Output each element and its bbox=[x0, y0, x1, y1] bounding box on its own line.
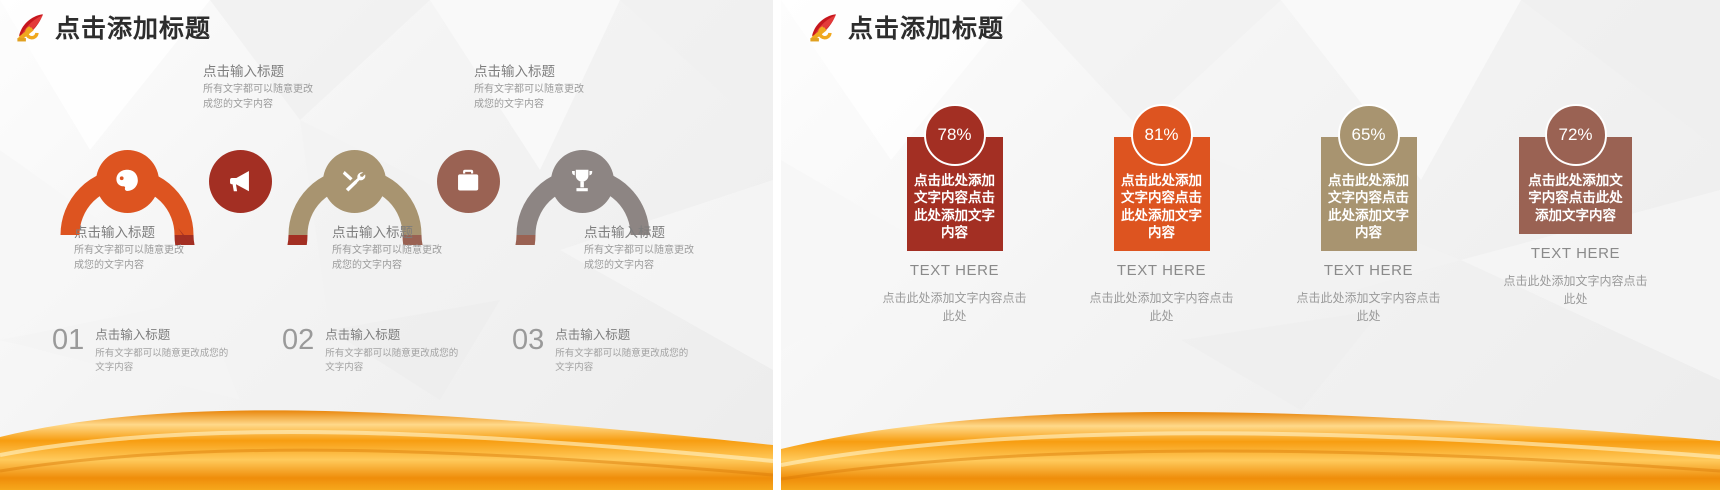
wave-label-title: 点击输入标题 bbox=[203, 63, 321, 81]
item-body: 所有文字都可以随意更改成您的文字内容 bbox=[325, 347, 467, 375]
card-label: TEXT HERE bbox=[910, 262, 999, 279]
stat-card[interactable]: 72% 点击此处添加文字内容点击此处添加文字内容 TEXT HERE 点击此处添… bbox=[1472, 104, 1679, 325]
list-item[interactable]: 01 点击输入标题 所有文字都可以随意更改成您的文字内容 bbox=[52, 326, 282, 375]
wave-label-5: 点击输入标题 所有文字都可以随意更改成您的文字内容 bbox=[584, 224, 702, 273]
stat-card[interactable]: 81% 点击此处添加文字内容点击此处添加文字内容 TEXT HERE 点击此处添… bbox=[1058, 104, 1265, 325]
wave-label-body: 所有文字都可以随意更改成您的文字内容 bbox=[332, 244, 450, 273]
gold-silk-ribbon bbox=[0, 375, 773, 490]
palette-icon bbox=[112, 166, 142, 196]
card-description: 点击此处添加文字内容点击此处 bbox=[1501, 272, 1651, 308]
item-number: 02 bbox=[282, 326, 314, 355]
slide-header-right: 点击添加标题 bbox=[807, 9, 1004, 45]
card-label: TEXT HERE bbox=[1531, 245, 1620, 262]
wave-label-body: 所有文字都可以随意更改成您的文字内容 bbox=[74, 244, 192, 273]
card-label: TEXT HERE bbox=[1324, 262, 1413, 279]
wave-label-title: 点击输入标题 bbox=[474, 63, 592, 81]
item-number: 01 bbox=[52, 326, 84, 355]
wave-label-3: 点击输入标题 所有文字都可以随意更改成您的文字内容 bbox=[332, 224, 450, 273]
stat-card[interactable]: 65% 点击此处添加文字内容点击此处添加文字内容 TEXT HERE 点击此处添… bbox=[1265, 104, 1472, 325]
percent-badge: 72% bbox=[1545, 104, 1607, 166]
numbered-list: 01 点击输入标题 所有文字都可以随意更改成您的文字内容 02 点击输入标题 所… bbox=[52, 326, 742, 375]
slide-divider bbox=[773, 0, 781, 490]
item-title: 点击输入标题 bbox=[95, 327, 170, 342]
item-title: 点击输入标题 bbox=[325, 327, 400, 342]
list-item[interactable]: 02 点击输入标题 所有文字都可以随意更改成您的文字内容 bbox=[282, 326, 512, 375]
item-number: 03 bbox=[512, 326, 544, 355]
wave-label-1: 点击输入标题 所有文字都可以随意更改成您的文字内容 bbox=[74, 224, 192, 273]
percent-badge: 65% bbox=[1338, 104, 1400, 166]
wave-node-3[interactable] bbox=[323, 150, 386, 213]
megaphone-icon bbox=[225, 166, 255, 196]
item-title: 点击输入标题 bbox=[555, 327, 630, 342]
wave-label-2: 点击输入标题 所有文字都可以随意更改成您的文字内容 bbox=[203, 63, 321, 112]
slide-header-left: 点击添加标题 bbox=[14, 9, 211, 45]
item-body: 所有文字都可以随意更改成您的文字内容 bbox=[95, 347, 237, 375]
card-description: 点击此处添加文字内容点击此处 bbox=[880, 289, 1030, 325]
percent-badge: 81% bbox=[1131, 104, 1193, 166]
tools-icon bbox=[339, 166, 369, 196]
trophy-icon bbox=[567, 166, 597, 196]
wave-node-4[interactable] bbox=[437, 150, 500, 213]
wave-label-title: 点击输入标题 bbox=[332, 224, 450, 242]
wave-label-title: 点击输入标题 bbox=[74, 224, 192, 242]
card-label: TEXT HERE bbox=[1117, 262, 1206, 279]
stat-card-list: 78% 点击此处添加文字内容点击此处添加文字内容 TEXT HERE 点击此处添… bbox=[851, 104, 1681, 325]
wave-node-1[interactable] bbox=[96, 150, 159, 213]
card-description: 点击此处添加文字内容点击此处 bbox=[1294, 289, 1444, 325]
wave-label-body: 所有文字都可以随意更改成您的文字内容 bbox=[584, 244, 702, 273]
stat-card[interactable]: 78% 点击此处添加文字内容点击此处添加文字内容 TEXT HERE 点击此处添… bbox=[851, 104, 1058, 325]
slide-deck: 点击添加标题 bbox=[0, 0, 1720, 490]
wave-label-title: 点击输入标题 bbox=[584, 224, 702, 242]
slide-left: 点击添加标题 bbox=[0, 0, 773, 490]
percent-badge: 78% bbox=[924, 104, 986, 166]
gold-silk-ribbon bbox=[781, 375, 1720, 490]
wave-label-4: 点击输入标题 所有文字都可以随意更改成您的文字内容 bbox=[474, 63, 592, 112]
wave-node-5[interactable] bbox=[551, 150, 614, 213]
briefcase-icon bbox=[453, 166, 483, 196]
slide-right: 点击添加标题 78% 点击此处添加文字内容点击此处添加文字内容 TEXT HER… bbox=[781, 0, 1720, 490]
wave-node-2[interactable] bbox=[209, 150, 272, 213]
page-title: 点击添加标题 bbox=[55, 9, 211, 45]
item-body: 所有文字都可以随意更改成您的文字内容 bbox=[555, 347, 697, 375]
party-emblem-icon bbox=[807, 10, 841, 44]
page-title: 点击添加标题 bbox=[848, 9, 1004, 45]
wave-label-body: 所有文字都可以随意更改成您的文字内容 bbox=[203, 83, 321, 112]
list-item[interactable]: 03 点击输入标题 所有文字都可以随意更改成您的文字内容 bbox=[512, 326, 742, 375]
party-emblem-icon bbox=[14, 10, 48, 44]
wave-label-body: 所有文字都可以随意更改成您的文字内容 bbox=[474, 83, 592, 112]
card-description: 点击此处添加文字内容点击此处 bbox=[1087, 289, 1237, 325]
